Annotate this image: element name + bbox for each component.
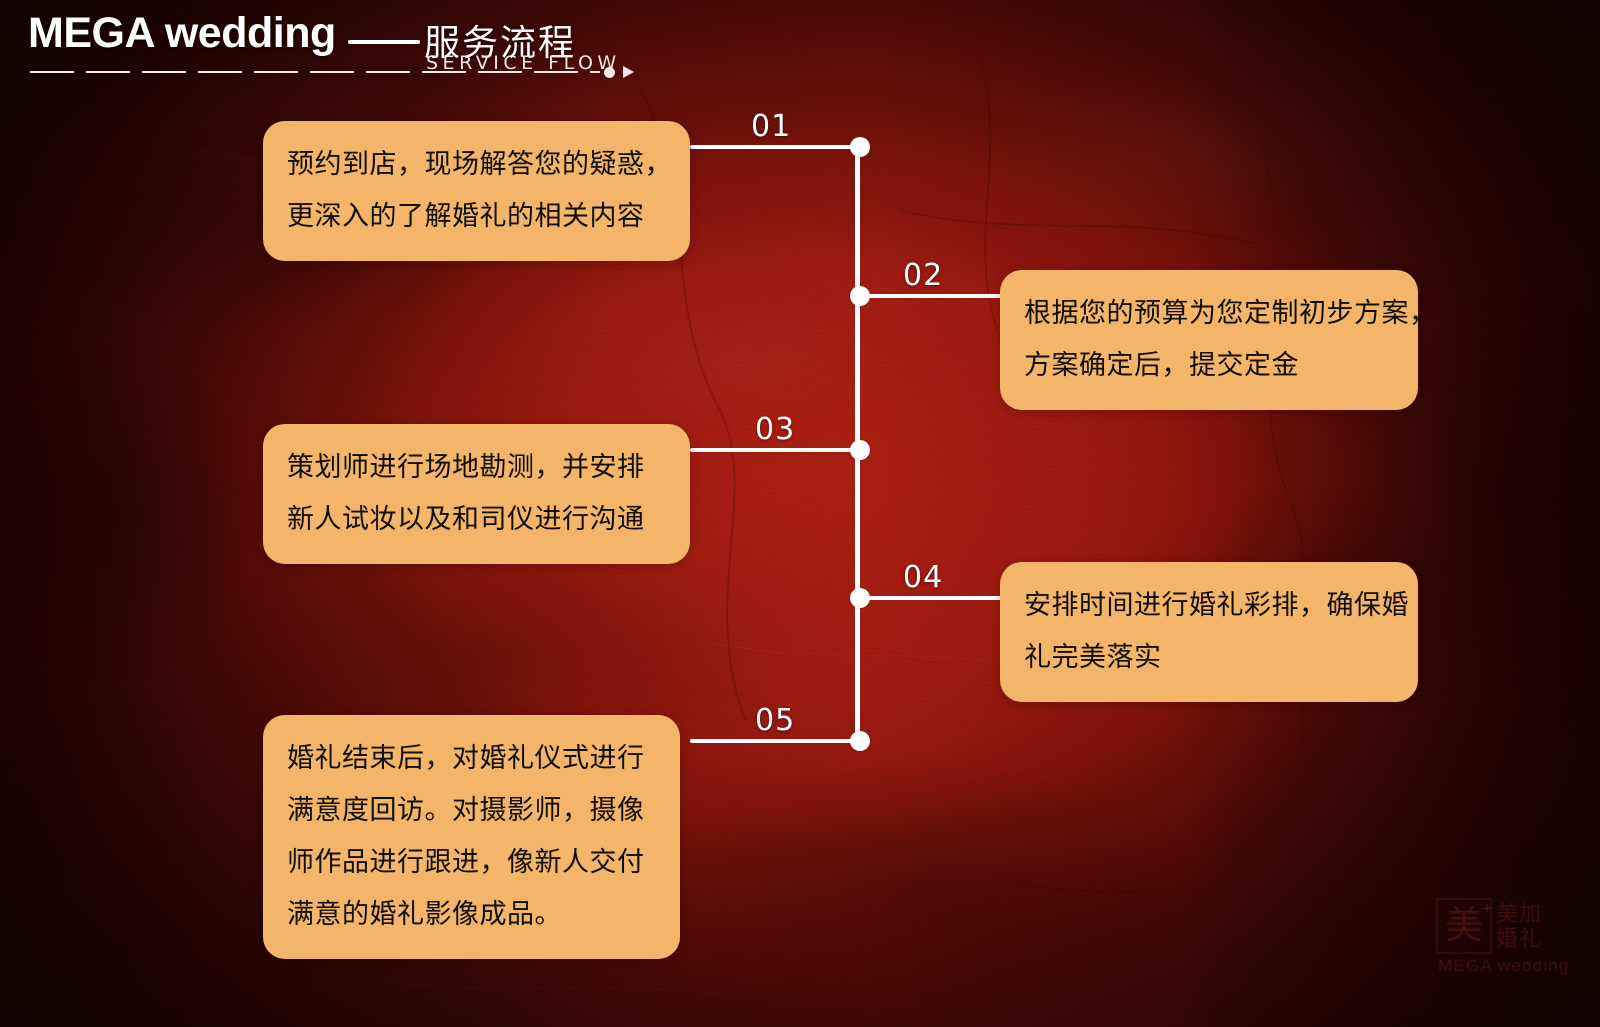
step-number-05: 05 [755, 703, 795, 738]
step-card-04-line-2: 礼完美落实 [1024, 632, 1394, 684]
step-card-01[interactable]: 预约到店，现场解答您的疑惑， 更深入的了解婚礼的相关内容 [263, 121, 690, 261]
brand-title: MEGA wedding [28, 9, 336, 58]
timeline-connector-04 [860, 596, 1003, 600]
step-number-03: 03 [755, 412, 795, 447]
logo-name-cn-line-1: 美加 [1496, 902, 1572, 927]
step-card-01-line-1: 预约到店，现场解答您的疑惑， [287, 139, 666, 191]
logo-name-cn: 美加 婚礼 [1496, 902, 1572, 952]
step-card-05-line-2: 满意度回访。对摄影师，摄像 [287, 785, 656, 837]
header-dashed-rule [30, 71, 600, 73]
step-card-03[interactable]: 策划师进行场地勘测，并安排 新人试妆以及和司仪进行沟通 [263, 424, 690, 564]
header-dash-divider-icon [348, 40, 420, 44]
logo-name-en: MEGA wedding [1438, 956, 1570, 976]
timeline-connector-02 [860, 294, 1003, 298]
step-card-02-line-2: 方案确定后，提交定金 [1024, 340, 1394, 392]
step-card-03-line-2: 新人试妆以及和司仪进行沟通 [287, 494, 666, 546]
step-number-01: 01 [751, 109, 791, 144]
logo-name-cn-line-2: 婚礼 [1496, 927, 1572, 952]
play-triangle-icon [623, 66, 634, 78]
slide-canvas: MEGA wedding 服务流程 SERVICE FLOW 01 02 03 … [0, 0, 1600, 1027]
plus-icon: + [1482, 900, 1492, 917]
step-card-01-line-2: 更深入的了解婚礼的相关内容 [287, 191, 666, 243]
dot-icon [604, 67, 615, 78]
timeline-connector-01 [690, 145, 855, 149]
timeline-connector-05 [690, 739, 855, 743]
step-card-05-line-4: 满意的婚礼影像成品。 [287, 889, 656, 941]
step-card-03-line-1: 策划师进行场地勘测，并安排 [287, 442, 666, 494]
step-card-05-line-3: 师作品进行跟进，像新人交付 [287, 837, 656, 889]
slide-header: MEGA wedding 服务流程 SERVICE FLOW [0, 0, 1600, 100]
footer-logo: 美 + 美加 婚礼 MEGA wedding [1436, 898, 1576, 984]
step-card-05[interactable]: 婚礼结束后，对婚礼仪式进行 满意度回访。对摄影师，摄像 师作品进行跟进，像新人交… [263, 715, 680, 959]
step-number-04: 04 [903, 560, 943, 595]
step-card-04-line-1: 安排时间进行婚礼彩排，确保婚 [1024, 580, 1394, 632]
step-card-02[interactable]: 根据您的预算为您定制初步方案， 方案确定后，提交定金 [1000, 270, 1418, 410]
step-card-02-line-1: 根据您的预算为您定制初步方案， [1024, 288, 1394, 340]
step-card-05-line-1: 婚礼结束后，对婚礼仪式进行 [287, 733, 656, 785]
step-card-04[interactable]: 安排时间进行婚礼彩排，确保婚 礼完美落实 [1000, 562, 1418, 702]
timeline-connector-03 [690, 448, 855, 452]
background-vignette [0, 0, 1600, 1027]
step-number-02: 02 [903, 258, 943, 293]
